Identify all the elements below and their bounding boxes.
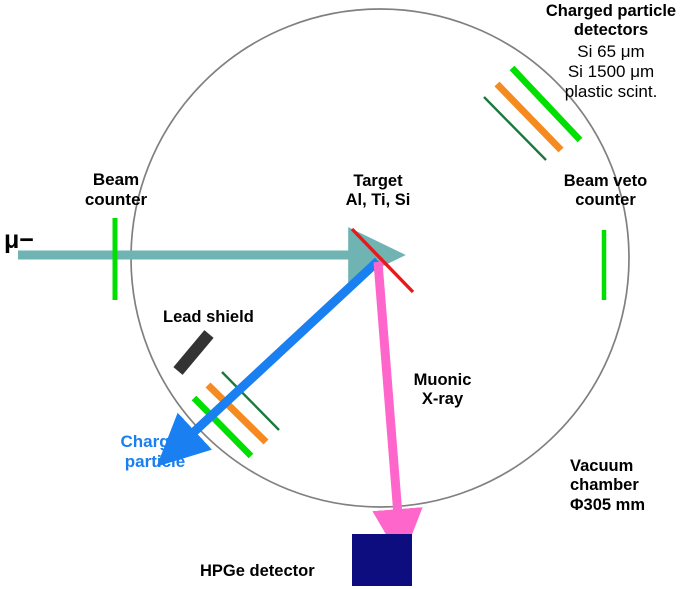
muonic-xray-label: Muonic X-ray [389, 371, 496, 410]
vacuum-chamber-label: Vacuum chamber Φ305 mm [570, 457, 696, 515]
charged-particle-arrow [181, 261, 378, 444]
hpge-detector-label: HPGe detector [200, 562, 346, 581]
charged-particle-detectors-specs: Si 65 μm Si 1500 μm plastic scint. [526, 42, 696, 102]
hpge-detector-block [352, 534, 412, 586]
beam-counter-label: Beam counter [57, 170, 175, 210]
lead-shield-bar [178, 334, 209, 371]
lead-shield-label: Lead shield [163, 308, 283, 327]
target-label: Target Al, Ti, Si [309, 172, 447, 211]
beam-veto-counter-label: Beam veto counter [513, 172, 696, 211]
beam-particle-label: μ− [4, 226, 34, 256]
charged-particle-label: Charged particle [79, 432, 231, 472]
charged-particle-detectors-title: Charged particle detectors [526, 2, 696, 41]
diagram-canvas: μ− Beam counter Target Al, Ti, Si Charge… [0, 0, 696, 589]
